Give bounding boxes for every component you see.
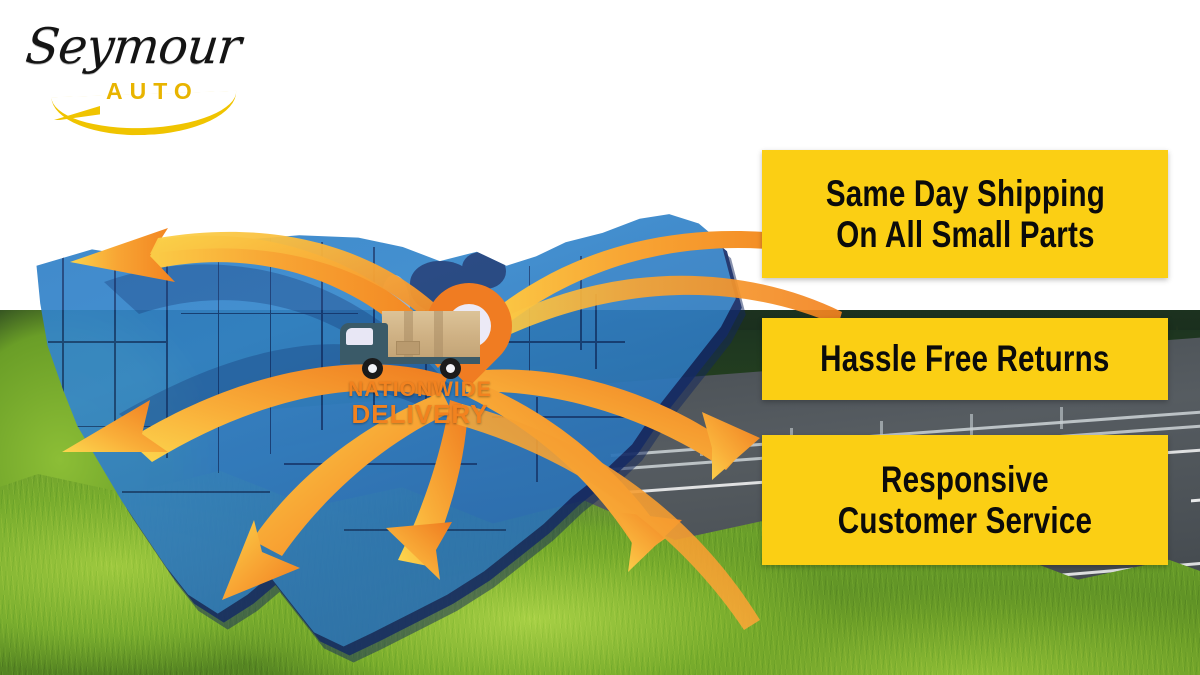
feature-box-3-text: Responsive Customer Service [838, 459, 1092, 542]
feature-1-line-2: On All Small Parts [836, 214, 1094, 255]
feature-box-1-text: Same Day Shipping On All Small Parts [825, 173, 1104, 256]
feature-2-line-1: Hassle Free Returns [820, 338, 1109, 379]
feature-box-hassle-free-returns[interactable]: Hassle Free Returns [762, 318, 1168, 400]
feature-box-2-text: Hassle Free Returns [820, 338, 1109, 379]
badge-line-2: DELIVERY [330, 401, 510, 428]
feature-box-responsive-customer-service[interactable]: Responsive Customer Service [762, 435, 1168, 565]
feature-1-line-1: Same Day Shipping [825, 173, 1104, 214]
nationwide-delivery-badge: NATIONWIDE DELIVERY [330, 283, 510, 448]
badge-caption: NATIONWIDE DELIVERY [330, 379, 510, 428]
feature-3-line-2: Customer Service [838, 500, 1092, 541]
delivery-truck-icon [340, 311, 480, 379]
badge-line-1: NATIONWIDE [330, 379, 510, 401]
feature-box-same-day-shipping[interactable]: Same Day Shipping On All Small Parts [762, 150, 1168, 278]
marketing-banner: Seymour AUTO [0, 0, 1200, 675]
feature-3-line-1: Responsive [881, 459, 1049, 500]
